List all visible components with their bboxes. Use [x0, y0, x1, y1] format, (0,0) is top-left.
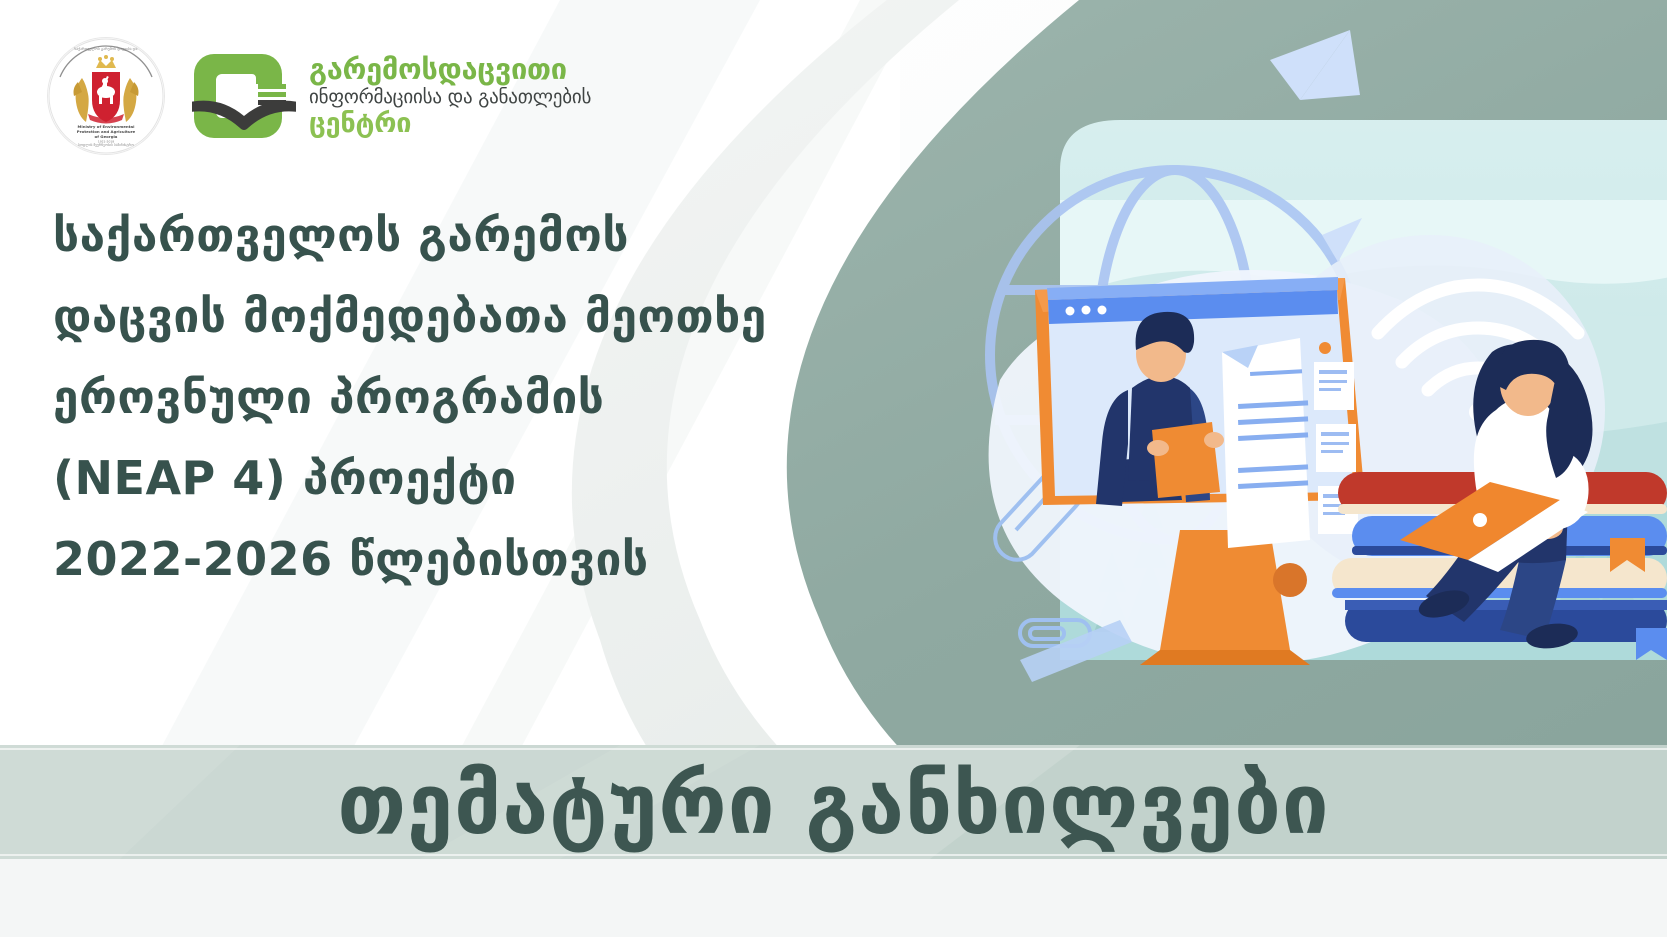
ministry-emblem-graphic: საქართველოს გარემოს დაცვისა და სოფლის მე… — [48, 38, 164, 154]
title-line: საქართველოს გარემოს — [53, 212, 773, 258]
slide-title: საქართველოს გარემოს დაცვის მოქმედებათა მ… — [53, 212, 773, 582]
header-logos: საქართველოს გარემოს დაცვისა და სოფლის მე… — [48, 38, 591, 154]
org-logo: გარემოსდაცვითი ინფორმაციისა და განათლები… — [192, 44, 591, 148]
title-line: დაცვის მოქმედებათა მეოთხე — [53, 293, 773, 339]
document-page — [1222, 338, 1310, 548]
banner-title: თემატური განხილვები — [0, 745, 1667, 859]
title-line: 2022-2026 წლებისთვის — [53, 536, 773, 582]
svg-text:of Georgia: of Georgia — [95, 134, 118, 139]
org-logo-line-1: გარემოსდაცვითი — [309, 55, 591, 84]
title-line: (NEAP 4) პროექტი — [53, 455, 773, 501]
eiec-logo-icon — [192, 44, 296, 148]
svg-text:საქართველოს გარემოს დაცვისა და: საქართველოს გარემოს დაცვისა და — [75, 47, 138, 51]
title-line: ეროვნული პროგრამის — [53, 374, 773, 420]
org-logo-text: გარემოსდაცვითი ინფორმაციისა და განათლები… — [309, 55, 591, 137]
bottom-banner: თემატური განხილვები — [0, 745, 1667, 859]
footer-strip — [0, 859, 1667, 937]
org-logo-line-3: ცენტრი — [309, 110, 591, 137]
ministry-emblem: საქართველოს გარემოს დაცვისა და სოფლის მე… — [48, 38, 164, 154]
svg-text:1921-2018: 1921-2018 — [98, 140, 114, 144]
org-logo-line-2: ინფორმაციისა და განათლების — [309, 88, 591, 107]
svg-text:სოფლის მეურნეობის სამინისტრო: სოფლის მეურნეობის სამინისტრო — [78, 143, 134, 147]
presentation-slide: საქართველოს გარემოს დაცვისა და სოფლის მე… — [0, 0, 1667, 937]
